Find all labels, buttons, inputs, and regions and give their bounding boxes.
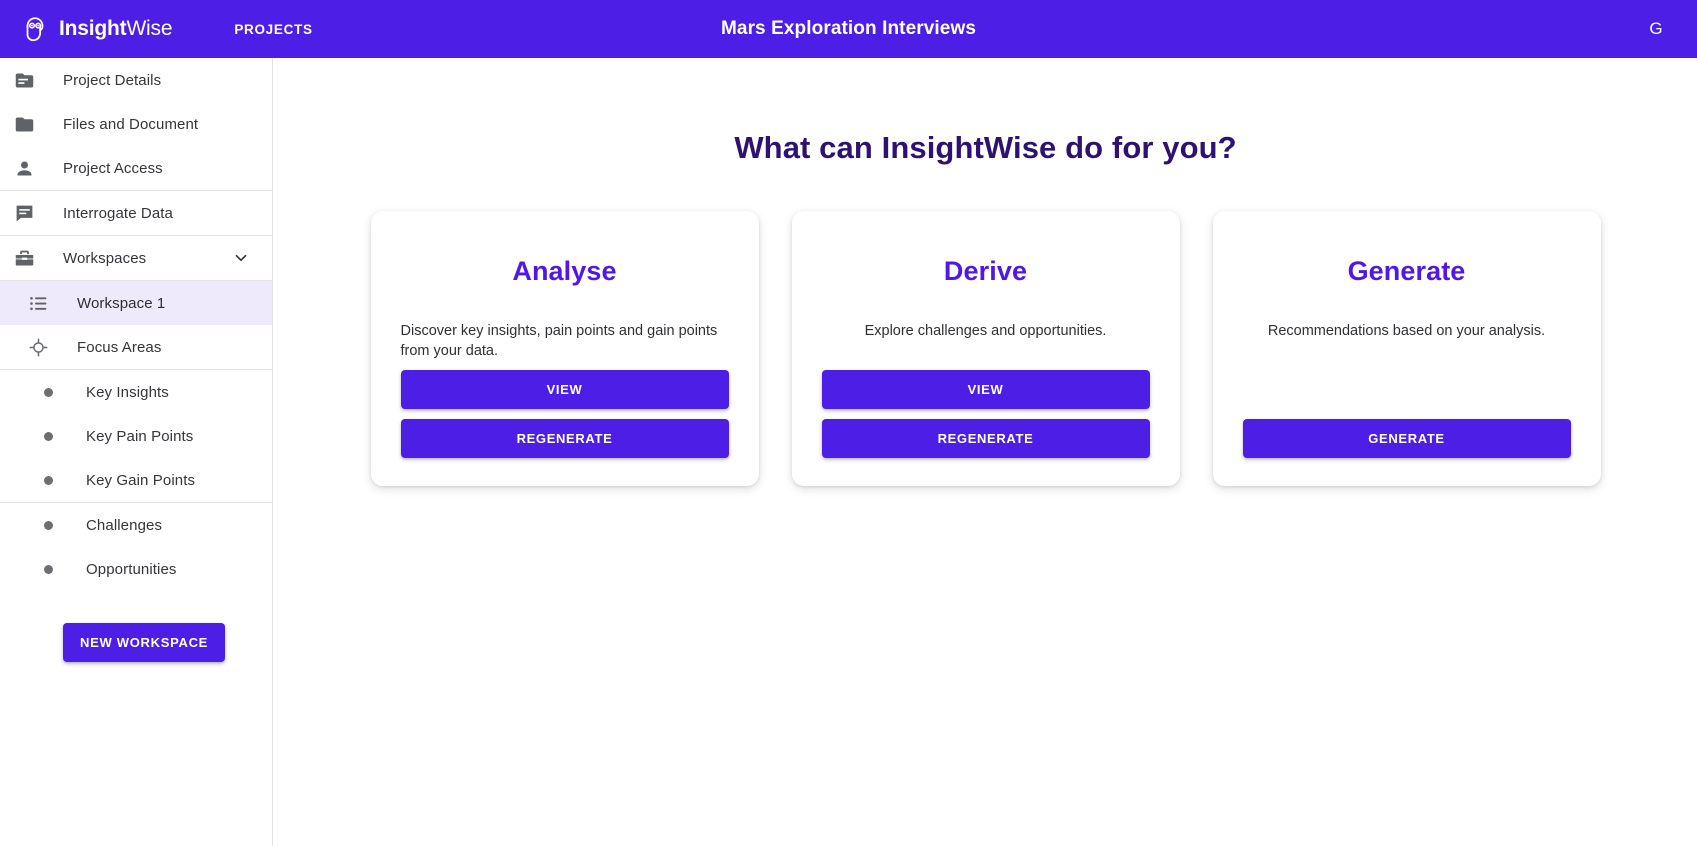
sidebar-item-label: Key Pain Points [86,428,193,445]
dot-icon [36,388,60,397]
derive-regenerate-button[interactable]: REGENERATE [822,419,1150,458]
card-actions: VIEWREGENERATE [822,370,1150,458]
sidebar-item-project-access[interactable]: Project Access [0,146,272,190]
card-actions: GENERATE [1243,419,1571,458]
avatar[interactable]: G [1639,12,1673,46]
sidebar-group-1: Interrogate Data [0,190,272,235]
sidebar: Project DetailsFiles and DocumentProject… [0,58,273,846]
sidebar-group-3: Workspace 1Focus Areas [0,280,272,369]
brand-wordmark: InsightWise [59,17,172,41]
card-title: Derive [822,256,1150,287]
main-content: What can InsightWise do for you? Analyse… [274,58,1697,846]
analyse-regenerate-button[interactable]: REGENERATE [401,419,729,458]
card-analyse: AnalyseDiscover key insights, pain point… [371,211,759,486]
new-workspace-button-wrap: NEW WORKSPACE [0,591,272,662]
card-derive: DeriveExplore challenges and opportuniti… [792,211,1180,486]
sidebar-group-2: Workspaces [0,235,272,280]
person-icon [12,158,36,179]
sidebar-item-label: Workspaces [63,250,146,267]
owl-icon [20,14,50,44]
sidebar-item-key-gain-points[interactable]: Key Gain Points [0,458,272,502]
dot-icon [36,565,60,574]
sidebar-item-workspaces[interactable]: Workspaces [0,236,272,280]
main-heading: What can InsightWise do for you? [274,130,1697,166]
card-description: Discover key insights, pain points and g… [401,322,729,361]
chat-bubble-icon [12,203,36,224]
sidebar-item-interrogate-data[interactable]: Interrogate Data [0,191,272,235]
dot-icon [36,476,60,485]
card-title: Generate [1243,256,1571,287]
folder-icon [12,114,36,135]
briefcase-icon [12,248,36,269]
sidebar-group-4: Key InsightsKey Pain PointsKey Gain Poin… [0,369,272,502]
sidebar-item-project-details[interactable]: Project Details [0,58,272,102]
derive-view-button[interactable]: VIEW [822,370,1150,409]
dot-icon [36,432,60,441]
card-actions: VIEWREGENERATE [401,370,729,458]
sidebar-group-5: ChallengesOpportunities [0,502,272,591]
top-navigation-bar: InsightWise PROJECTS Mars Exploration In… [0,0,1697,58]
dot-icon [36,521,60,530]
analyse-view-button[interactable]: VIEW [401,370,729,409]
sidebar-item-label: Workspace 1 [77,295,165,312]
sidebar-item-key-insights[interactable]: Key Insights [0,370,272,414]
sidebar-item-label: Project Access [63,160,163,177]
list-icon [26,293,50,314]
sidebar-item-workspace-1[interactable]: Workspace 1 [0,281,272,325]
brand-name-bold: Insight [59,17,126,40]
sidebar-item-label: Opportunities [86,561,177,578]
sidebar-item-label: Project Details [63,72,161,89]
sidebar-item-label: Files and Document [63,116,198,133]
sidebar-item-focus-areas[interactable]: Focus Areas [0,325,272,369]
card-description: Recommendations based on your analysis. [1243,322,1571,342]
sidebar-item-opportunities[interactable]: Opportunities [0,547,272,591]
sidebar-item-key-pain-points[interactable]: Key Pain Points [0,414,272,458]
folder-lines-icon [12,70,36,91]
chevron-down-icon[interactable] [232,249,250,267]
feature-card-list: AnalyseDiscover key insights, pain point… [274,211,1697,486]
sidebar-group-0: Project DetailsFiles and DocumentProject… [0,58,272,190]
brand-name-light: Wise [126,17,172,40]
card-title: Analyse [401,256,729,287]
sidebar-item-label: Focus Areas [77,339,161,356]
sidebar-nav: Project DetailsFiles and DocumentProject… [0,58,272,591]
sidebar-item-files-and-document[interactable]: Files and Document [0,102,272,146]
sidebar-item-label: Interrogate Data [63,205,173,222]
card-description: Explore challenges and opportunities. [822,322,1150,342]
sidebar-item-label: Challenges [86,517,162,534]
sidebar-item-challenges[interactable]: Challenges [0,503,272,547]
sidebar-item-label: Key Gain Points [86,472,195,489]
card-generate: GenerateRecommendations based on your an… [1213,211,1601,486]
crosshair-icon [26,337,50,358]
nav-projects-link[interactable]: PROJECTS [234,22,312,37]
new-workspace-button[interactable]: NEW WORKSPACE [63,623,225,662]
generate-generate-button[interactable]: GENERATE [1243,419,1571,458]
sidebar-item-label: Key Insights [86,384,169,401]
brand-logo-group[interactable]: InsightWise [20,14,172,44]
